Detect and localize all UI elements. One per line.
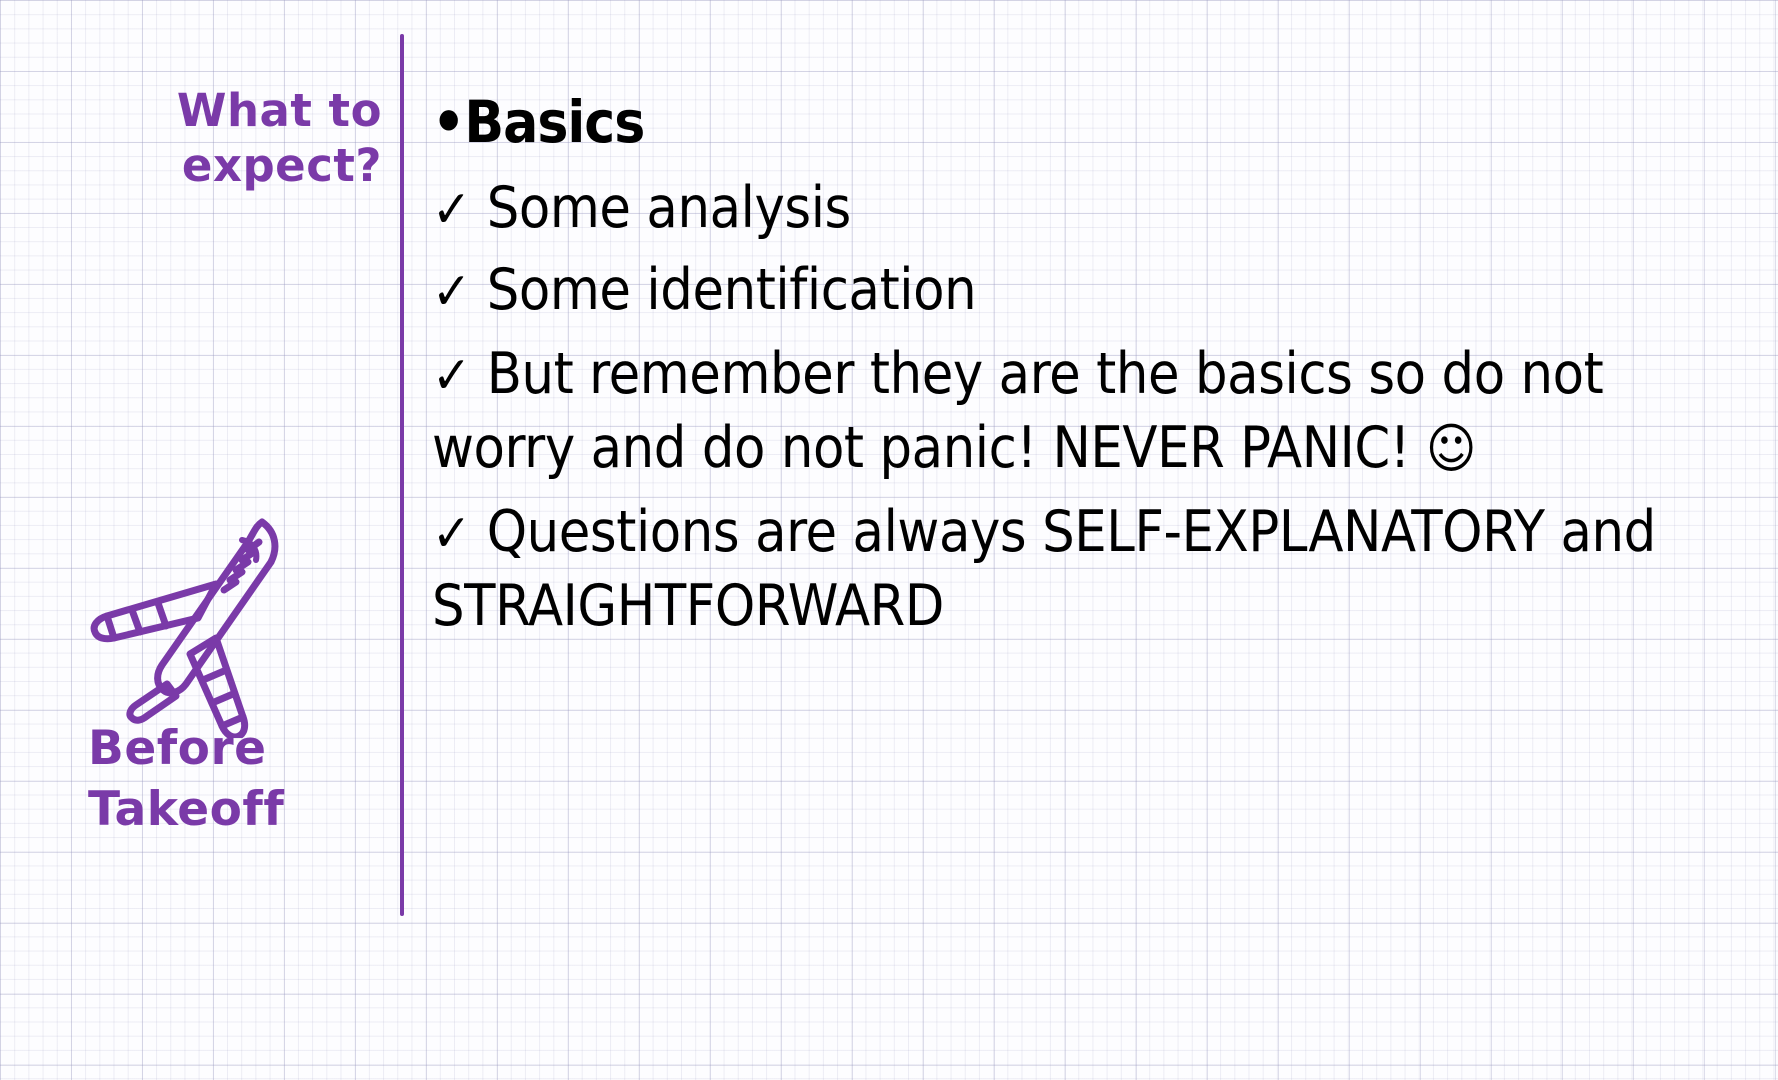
- footer-label-line-2: Takeoff: [88, 779, 284, 840]
- list-item-text: Some analysis: [487, 175, 851, 241]
- list-item: ✓ Questions are always SELF-EXPLANATORY …: [432, 495, 1752, 643]
- vertical-divider: [400, 34, 404, 916]
- checkmark-icon: ✓: [432, 346, 471, 406]
- checkmark-icon: ✓: [432, 180, 471, 240]
- list-item: ✓ Some identification: [432, 255, 1752, 327]
- footer-label-line-1: Before: [88, 718, 284, 779]
- airplane-icon: [66, 498, 296, 738]
- list-item-text: Some identification: [487, 257, 976, 323]
- bullet-list: •Basics ✓ Some analysis ✓ Some identific…: [432, 86, 1752, 653]
- page-title-line-2: expect?: [52, 139, 382, 194]
- list-item: ✓ But remember they are the basics so do…: [432, 337, 1752, 485]
- page-title-line-1: What to: [52, 84, 382, 139]
- slide-canvas: What to expect?: [0, 0, 1778, 1080]
- page-title: What to expect?: [52, 84, 382, 194]
- left-column: What to expect?: [0, 0, 400, 1080]
- checkmark-icon: ✓: [432, 504, 471, 564]
- list-item: ✓ Some analysis: [432, 173, 1752, 245]
- smiley-face-icon: ☺: [1426, 417, 1476, 480]
- footer-label: Before Takeoff: [88, 718, 284, 840]
- bullet-dot-icon: •: [432, 88, 464, 156]
- list-item: •Basics: [432, 86, 1752, 159]
- list-item-text: Questions are always SELF-EXPLANATORY an…: [432, 499, 1656, 639]
- list-item-text: Basics: [464, 88, 644, 156]
- checkmark-icon: ✓: [432, 262, 471, 322]
